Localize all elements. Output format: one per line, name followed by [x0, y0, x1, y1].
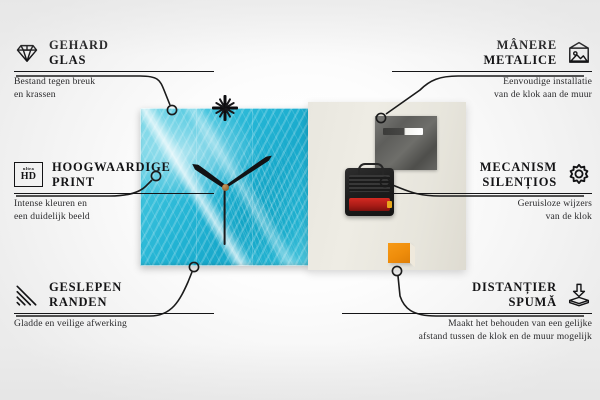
- callout-header: ultra HD HOOGWAARDIGEPRINT: [14, 160, 214, 190]
- callout-gehard-glas: GEHARDGLAS Bestand tegen breuken krassen: [14, 38, 214, 102]
- callout-title: DISTANȚIERSPUMĂ: [472, 280, 557, 310]
- callout-divider: [14, 313, 214, 314]
- foam-spacer-side: [410, 243, 415, 267]
- callout-subtitle: Maakt het behouden van een gelijkeafstan…: [342, 318, 592, 344]
- callout-subtitle: Geruisloze wijzersvan de klok: [392, 198, 592, 224]
- infographic-canvas: GEHARDGLAS Bestand tegen breuken krassen…: [0, 0, 600, 400]
- callout-subtitle: Gladde en veilige afwerking: [14, 318, 214, 331]
- callout-title: MÂNEREMETALICE: [483, 38, 557, 68]
- clock-center-cap: [222, 184, 229, 191]
- callout-title: MECANISMSILENȚIOS: [480, 160, 557, 190]
- callout-title: GESLEPENRANDEN: [49, 280, 122, 310]
- gear-icon: [566, 162, 592, 188]
- movement-ridges: [349, 175, 390, 192]
- callout-divider: [342, 313, 592, 314]
- callout-manere-metalice: MÂNEREMETALICE Eenvoudige installatievan…: [392, 38, 592, 102]
- callout-header: DISTANȚIERSPUMĂ: [342, 280, 592, 310]
- clock-second-hand: [224, 187, 226, 245]
- hanger-slot: [383, 128, 423, 135]
- callout-divider: [392, 193, 592, 194]
- callout-header: MECANISMSILENȚIOS: [392, 160, 592, 190]
- callout-title: GEHARDGLAS: [49, 38, 109, 68]
- callout-title: HOOGWAARDIGEPRINT: [52, 160, 171, 190]
- callout-distantier-spuma: DISTANȚIERSPUMĂ Maakt het behouden van e…: [342, 280, 592, 344]
- callout-divider: [14, 71, 214, 72]
- foam-spacer-pad: [388, 243, 410, 263]
- battery: [349, 198, 390, 211]
- callout-header: GESLEPENRANDEN: [14, 280, 214, 310]
- callout-header: GEHARDGLAS: [14, 38, 214, 68]
- ultra-hd-icon: ultra HD: [14, 162, 43, 187]
- callout-subtitle: Intense kleuren eneen duidelijk beeld: [14, 198, 214, 224]
- callout-header: MÂNEREMETALICE: [392, 38, 592, 68]
- callout-subtitle: Eenvoudige installatievan de klok aan de…: [392, 76, 592, 102]
- callout-divider: [14, 193, 214, 194]
- spacer-arrow-icon: [566, 282, 592, 308]
- callout-subtitle: Bestand tegen breuken krassen: [14, 76, 214, 102]
- diamond-icon: [14, 40, 40, 66]
- beveled-edges-icon: [14, 282, 40, 308]
- callout-mecanism-silentios: MECANISMSILENȚIOS Geruisloze wijzersvan …: [392, 160, 592, 224]
- callout-hoogwaardige-print: ultra HD HOOGWAARDIGEPRINT Intense kleur…: [14, 160, 214, 224]
- callout-divider: [392, 71, 592, 72]
- clock-movement: [345, 168, 394, 216]
- picture-hanger-icon: [566, 40, 592, 66]
- callout-geslepen-randen: GESLEPENRANDEN Gladde en veilige afwerki…: [14, 280, 214, 331]
- movement-hook: [358, 163, 384, 175]
- clock-minute-hand: [224, 154, 273, 189]
